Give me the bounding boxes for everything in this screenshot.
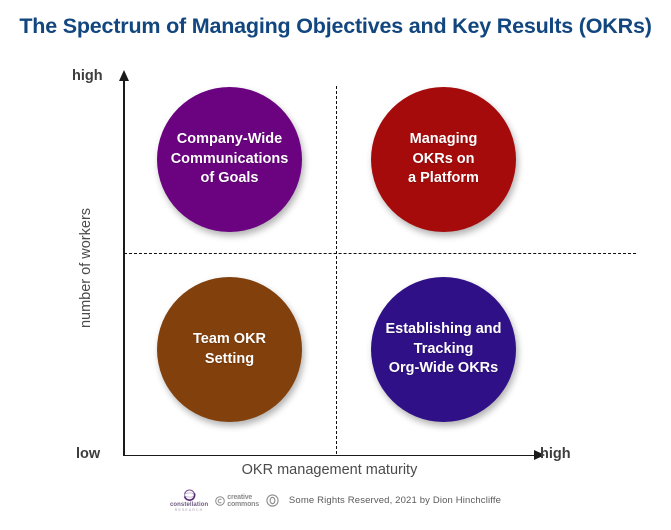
bubble-managing-okrs-on-a-platform[interactable]: Managing OKRs on a Platform	[371, 87, 516, 232]
footer-attribution: constellation RESEARCH creative commons …	[0, 489, 671, 512]
constellation-research-logo: constellation RESEARCH	[170, 489, 208, 512]
bubble-team-okr-setting[interactable]: Team OKR Setting	[157, 277, 302, 422]
cc-word-commons: commons	[227, 501, 259, 508]
constellation-sphere-icon	[181, 489, 198, 502]
creative-commons-logo: creative commons	[215, 494, 259, 508]
y-axis-high-label: high	[72, 68, 103, 84]
quadrant-divider-vertical	[336, 86, 337, 454]
x-axis-line	[123, 455, 536, 457]
constellation-subtext: RESEARCH	[175, 509, 203, 512]
bubble-label: Team OKR Setting	[187, 330, 272, 369]
y-axis-title: number of workers	[78, 168, 94, 368]
x-axis-low-label: low	[76, 446, 100, 462]
quadrant-chart: high low high number of workers OKR mana…	[0, 0, 671, 530]
cc-word-creative: creative	[227, 494, 259, 501]
cc-zero-public-domain-icon	[266, 494, 279, 507]
x-axis-high-label: high	[540, 446, 571, 462]
bubble-company-wide-communications[interactable]: Company-Wide Communications of Goals	[157, 87, 302, 232]
attribution-text: Some Rights Reserved, 2021 by Dion Hinch…	[286, 495, 501, 506]
creative-commons-icon	[215, 496, 225, 506]
y-axis-line	[123, 80, 125, 456]
creative-commons-wordmark: creative commons	[227, 494, 259, 508]
y-axis-arrow-icon	[119, 70, 129, 81]
bubble-label: Managing OKRs on a Platform	[402, 130, 485, 189]
bubble-establishing-tracking-org-wide-okrs[interactable]: Establishing and Tracking Org-Wide OKRs	[371, 277, 516, 422]
x-axis-title: OKR management maturity	[123, 462, 536, 478]
bubble-label: Establishing and Tracking Org-Wide OKRs	[379, 320, 507, 379]
quadrant-divider-horizontal	[124, 253, 636, 254]
bubble-label: Company-Wide Communications of Goals	[165, 130, 295, 189]
